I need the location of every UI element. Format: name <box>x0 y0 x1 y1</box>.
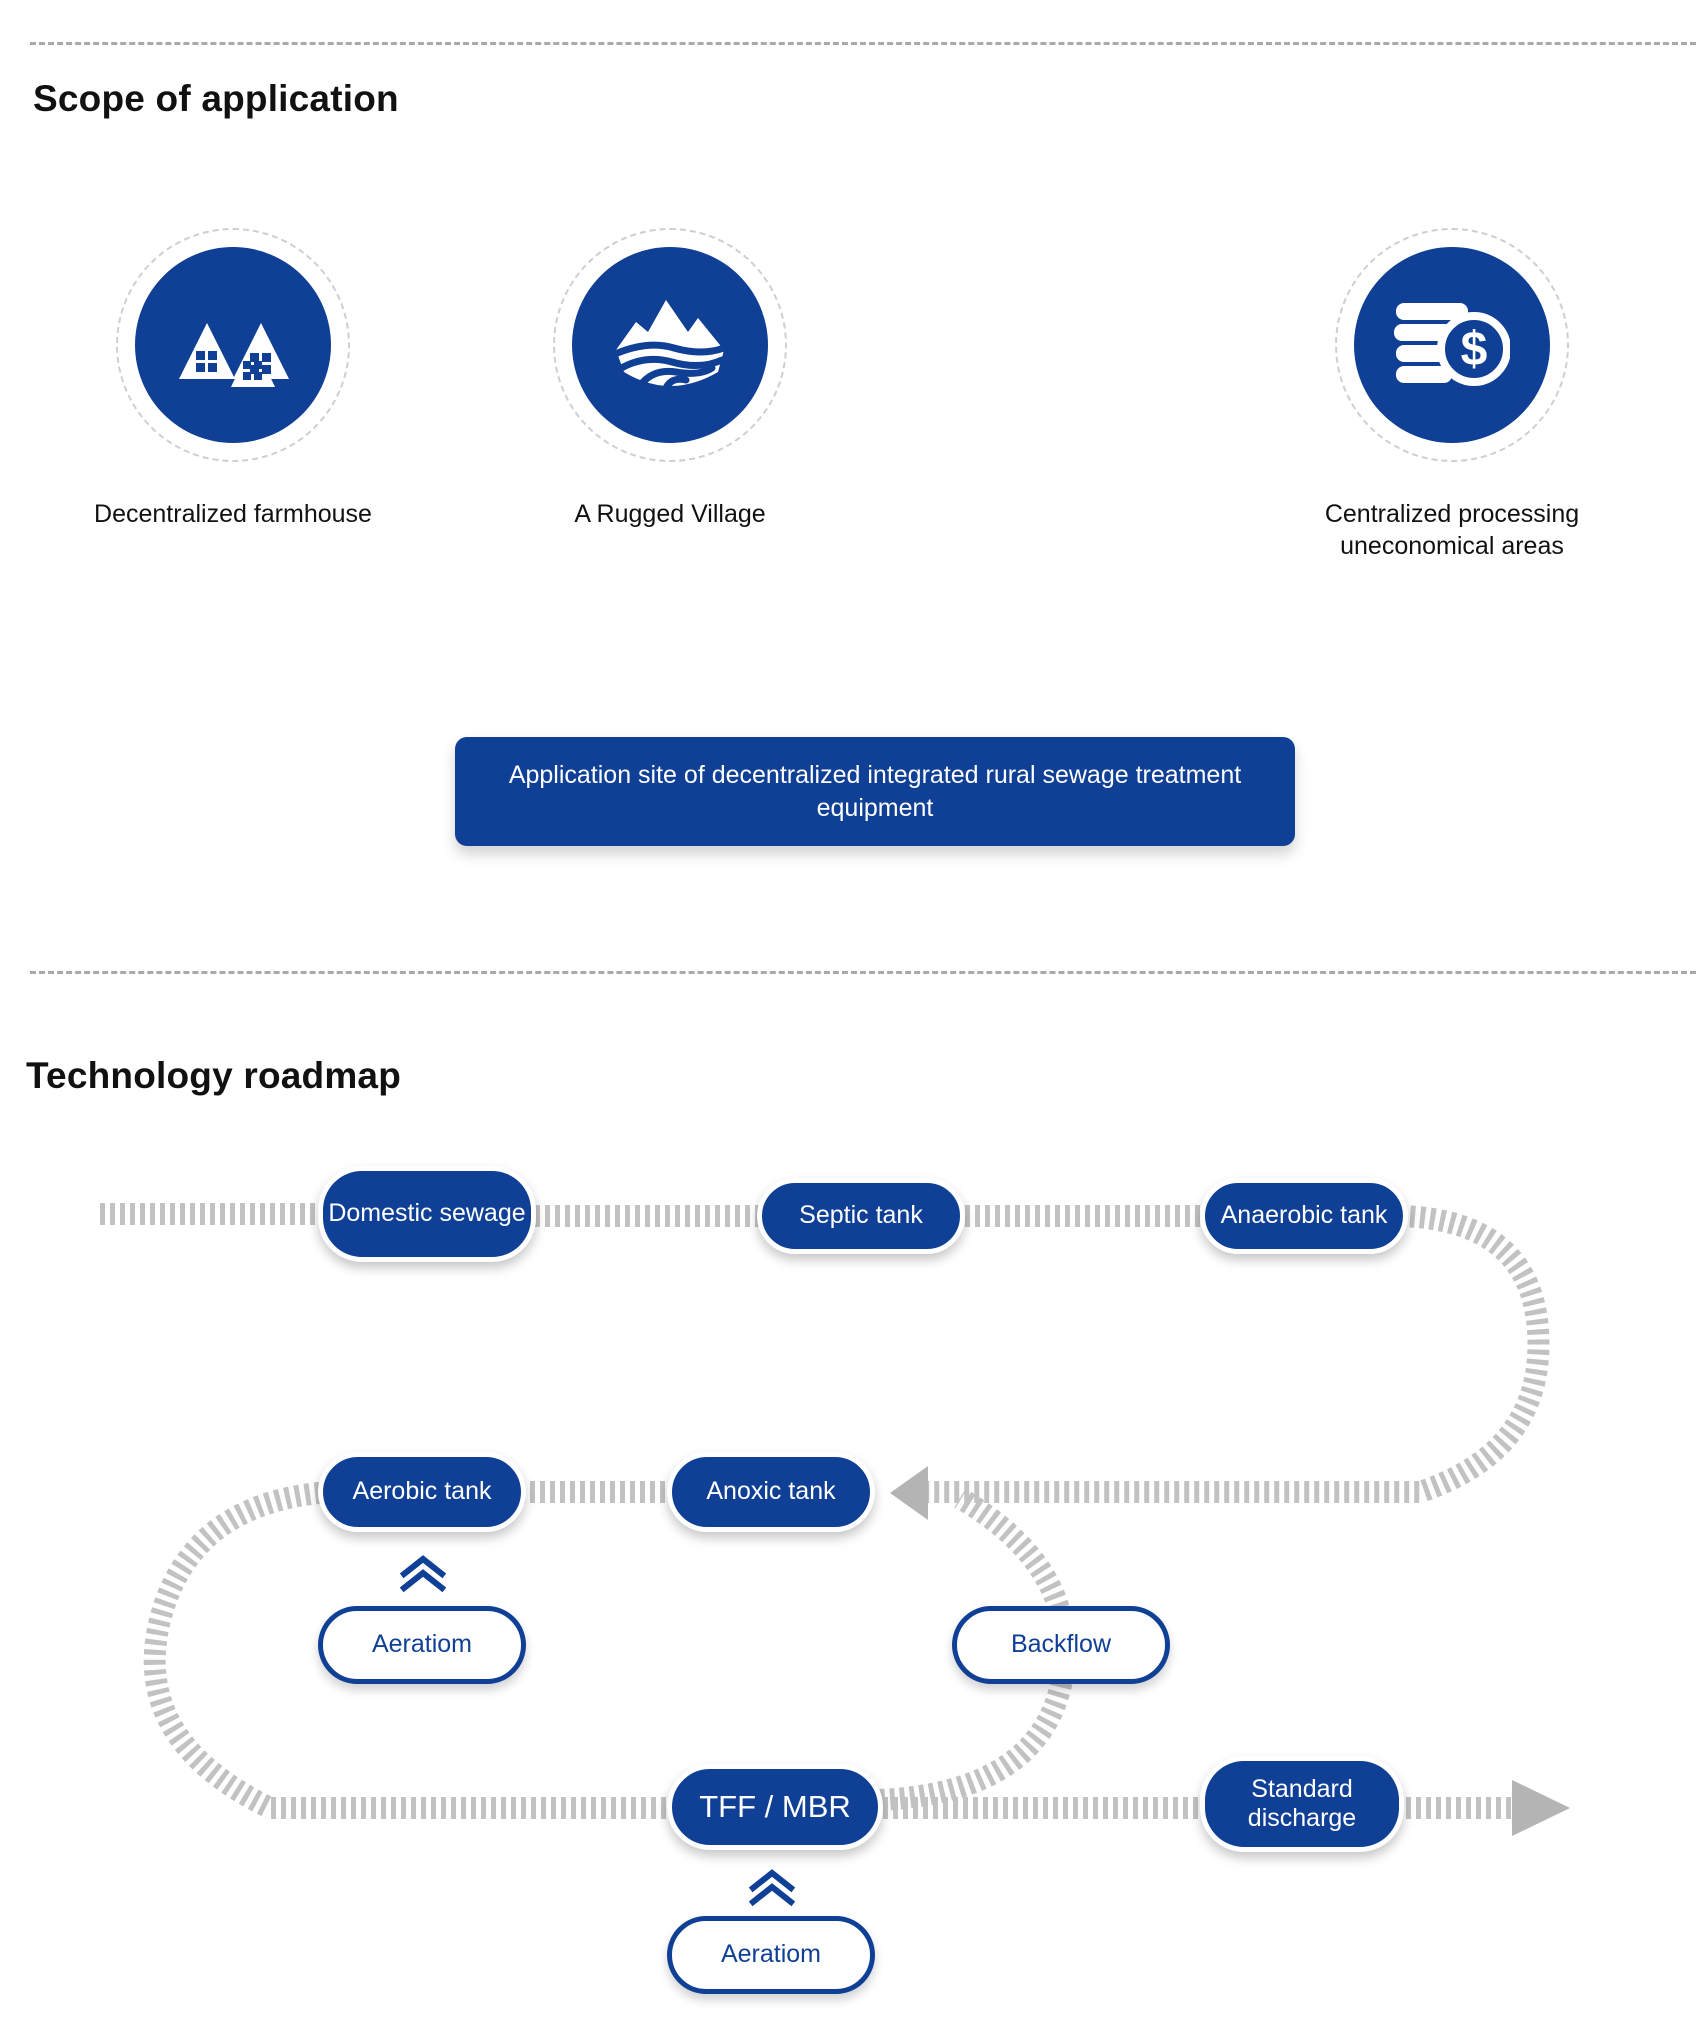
double-chevron-up-icon <box>400 1554 446 1594</box>
svg-text:$: $ <box>1461 323 1488 376</box>
scope-item-label: Centralized processing uneconomical area… <box>1282 498 1622 562</box>
mountain-field-icon <box>572 247 768 443</box>
dashed-ring <box>116 228 350 462</box>
node-aeration-lower[interactable]: Aeratiom <box>667 1916 875 1994</box>
node-anoxic-tank[interactable]: Anoxic tank <box>667 1452 875 1532</box>
node-aeration-upper[interactable]: Aeratiom <box>318 1606 526 1684</box>
node-domestic-sewage[interactable]: Domestic sewage <box>318 1166 536 1262</box>
node-backflow[interactable]: Backflow <box>952 1606 1170 1684</box>
double-chevron-up-icon <box>749 1868 795 1908</box>
section-title-scope: Scope of application <box>33 78 399 120</box>
houses-icon <box>135 247 331 443</box>
coins-dollar-icon: $ <box>1354 247 1550 443</box>
section-title-roadmap: Technology roadmap <box>26 1055 401 1097</box>
divider-top <box>30 42 1696 45</box>
flow-connectors <box>0 1120 1696 2020</box>
arrowhead-right <box>1512 1780 1570 1836</box>
scope-item-village[interactable]: A Rugged Village <box>500 228 840 530</box>
node-anaerobic-tank[interactable]: Anaerobic tank <box>1200 1178 1408 1254</box>
node-aerobic-tank[interactable]: Aerobic tank <box>318 1452 526 1532</box>
dashed-ring <box>553 228 787 462</box>
scope-item-farmhouse[interactable]: Decentralized farmhouse <box>63 228 403 530</box>
roadmap-diagram: Domestic sewage Septic tank Anaerobic ta… <box>0 1120 1696 2020</box>
node-septic-tank[interactable]: Septic tank <box>757 1178 965 1254</box>
dashed-ring: $ <box>1335 228 1569 462</box>
scope-icon-row: Decentralized farmhouse <box>0 228 1696 528</box>
arrowhead-left <box>890 1466 928 1520</box>
scope-item-label: Decentralized farmhouse <box>63 498 403 530</box>
node-tff-mbr[interactable]: TFF / MBR <box>667 1764 883 1850</box>
scope-item-cost[interactable]: $ Centralized processing uneconomical ar… <box>1282 228 1622 562</box>
poster-root: Scope of application <box>0 0 1696 2027</box>
scope-item-label: A Rugged Village <box>500 498 840 530</box>
divider-middle <box>30 971 1696 974</box>
node-standard-discharge[interactable]: Standard discharge <box>1200 1756 1404 1852</box>
application-site-banner: Application site of decentralized integr… <box>455 737 1295 846</box>
